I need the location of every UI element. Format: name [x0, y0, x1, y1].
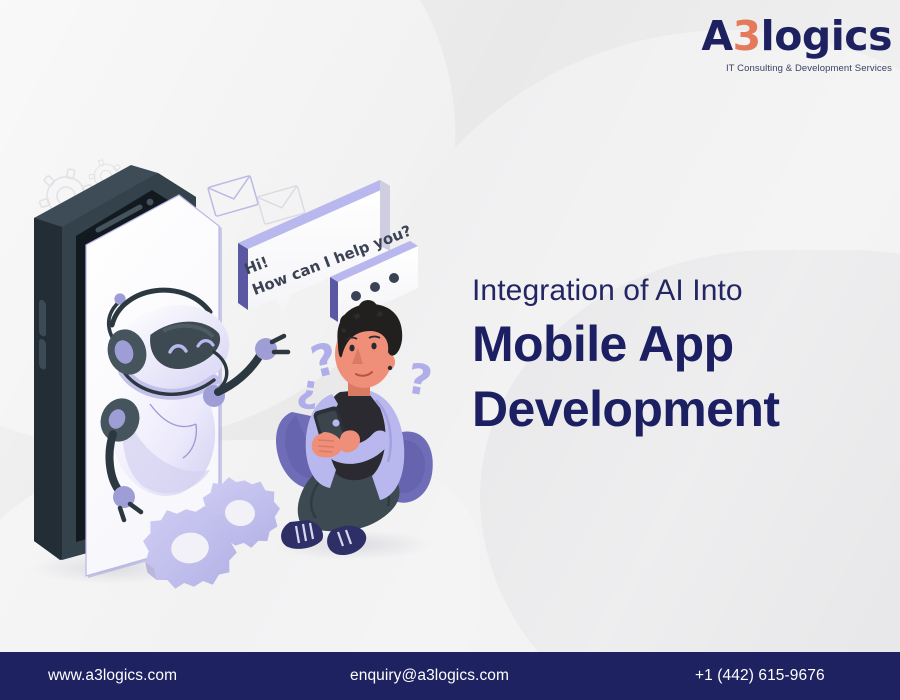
- person-eye: [371, 343, 376, 350]
- phone-volume-button: [39, 338, 46, 371]
- logo-tagline: IT Consulting & Development Services: [701, 63, 892, 74]
- brand-logo: A3logics IT Consulting & Development Ser…: [701, 16, 892, 74]
- contact-footer: www.a3logics.com enquiry@a3logics.com +1…: [0, 652, 900, 700]
- seated-person-illustration: [274, 300, 433, 560]
- phone-volume-button: [39, 299, 46, 338]
- hero-illustration: Hi! How can I help you? ? ¿ ?: [0, 0, 470, 650]
- headline-main-line2: Development: [472, 380, 872, 439]
- headline-block: Integration of AI Into Mobile App Develo…: [472, 274, 872, 439]
- question-mark-icon: ?: [403, 354, 436, 406]
- footer-website[interactable]: www.a3logics.com: [48, 667, 177, 685]
- footer-phone[interactable]: +1 (442) 615-9676: [695, 667, 825, 685]
- typing-dot: [370, 282, 380, 292]
- logo-letter-a: A: [701, 12, 732, 60]
- logo-word-logics: logics: [761, 12, 892, 60]
- banner-canvas: A3logics IT Consulting & Development Ser…: [0, 0, 900, 700]
- headline-eyebrow: Integration of AI Into: [472, 274, 872, 309]
- envelope-outline-icon: [208, 176, 305, 225]
- footer-email[interactable]: enquiry@a3logics.com: [350, 667, 509, 685]
- headline-main-line1: Mobile App: [472, 315, 872, 374]
- logo-digit-3: 3: [733, 12, 761, 60]
- typing-dot: [351, 291, 361, 301]
- logo-wordmark: A3logics: [701, 16, 892, 57]
- person-eye: [349, 345, 354, 352]
- typing-dot: [389, 273, 399, 283]
